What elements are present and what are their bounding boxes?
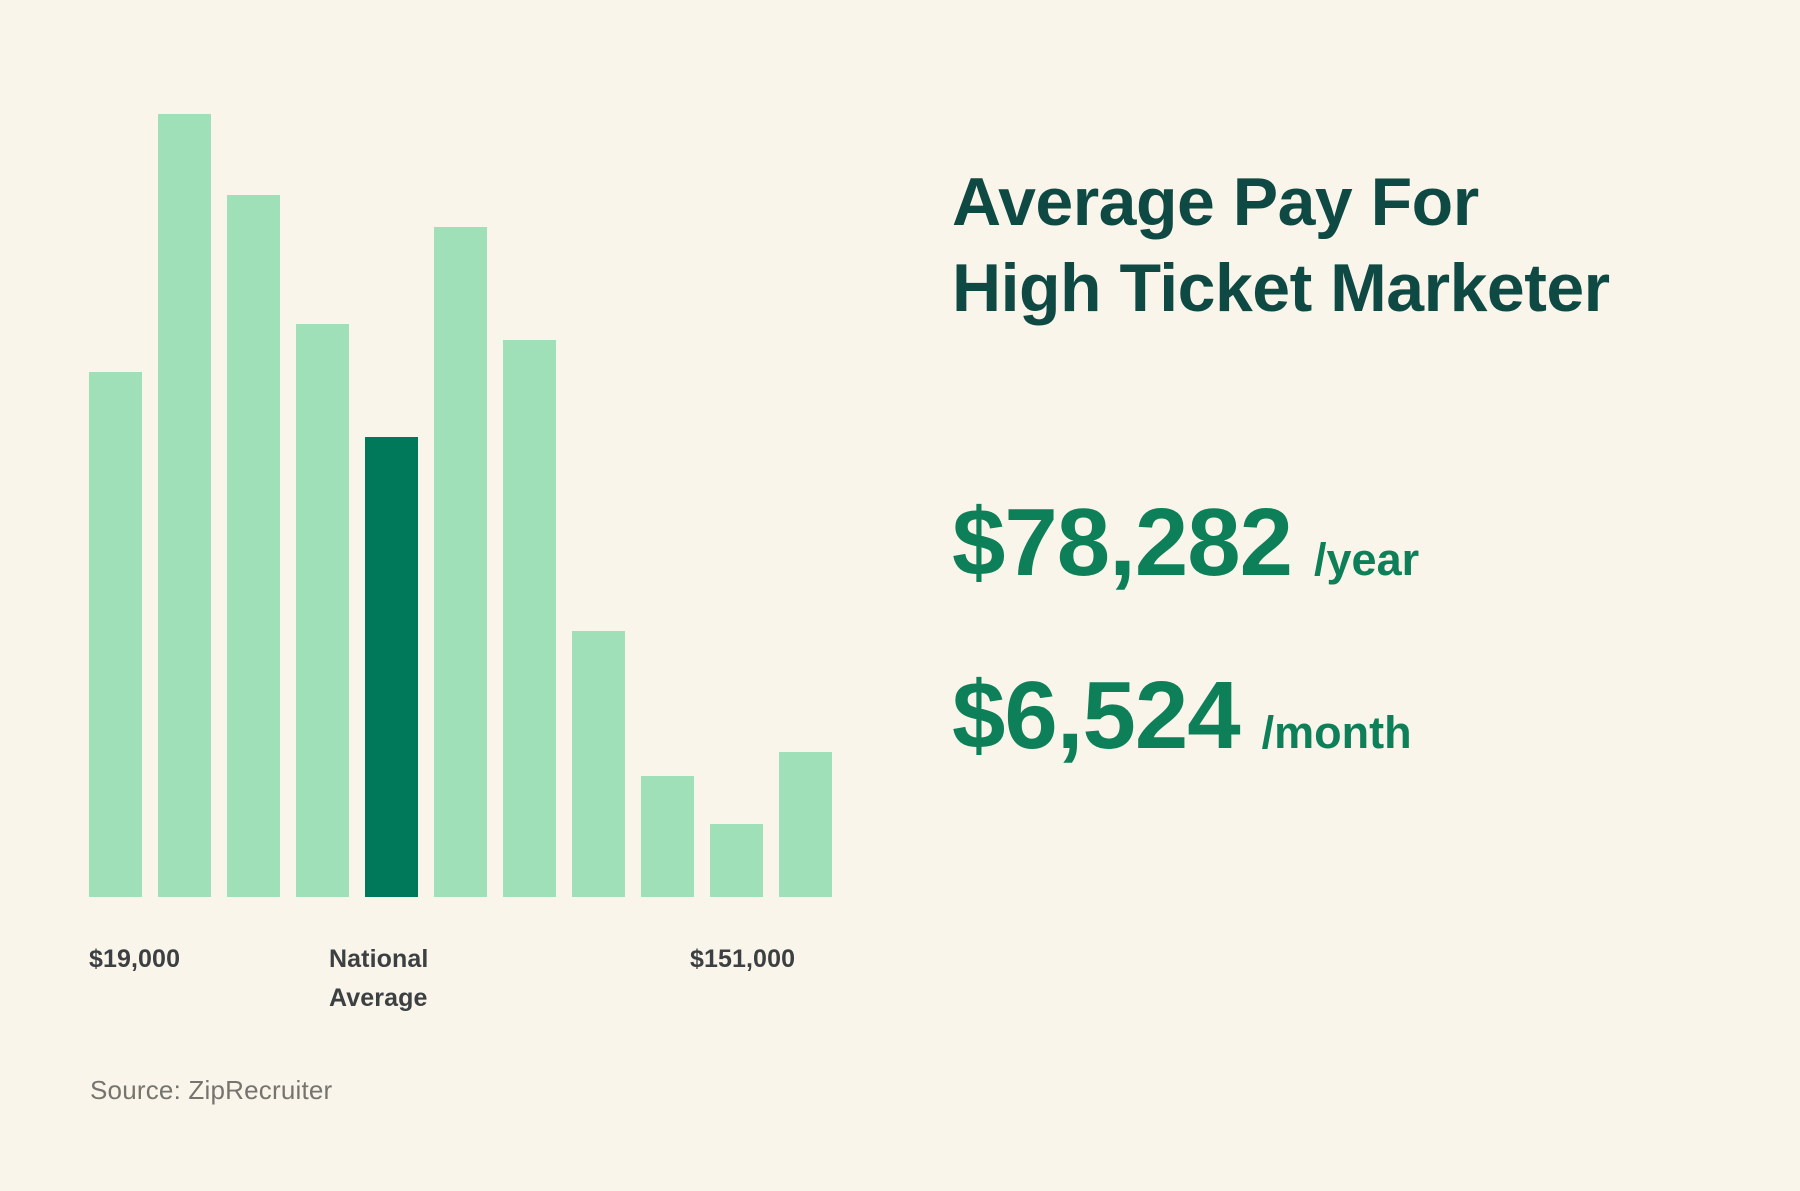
pay-summary-panel: Average Pay For High Ticket Marketer $78… — [952, 0, 1712, 1191]
yearly-pay-row: $78,282 /year — [952, 495, 1419, 591]
bar-segment — [503, 340, 556, 897]
bar-segment — [641, 776, 694, 897]
yearly-pay-unit: /year — [1314, 537, 1419, 582]
bar-segment — [227, 195, 280, 897]
bar-segment — [434, 227, 487, 897]
source-attribution: Source: ZipRecruiter — [90, 1075, 332, 1106]
bar-segment — [158, 114, 211, 897]
bar-plot-area — [89, 90, 849, 897]
yearly-pay-amount: $78,282 — [952, 495, 1292, 591]
infographic-canvas: $19,000 National Average $151,000 Source… — [0, 0, 1800, 1191]
bar-segment — [89, 372, 142, 897]
monthly-pay-unit: /month — [1262, 710, 1412, 755]
bar-segment — [296, 324, 349, 897]
bar-national-average — [365, 437, 418, 897]
salary-distribution-chart: $19,000 National Average $151,000 Source… — [0, 0, 900, 1191]
bar-segment — [572, 631, 625, 897]
axis-label-min: $19,000 — [89, 940, 180, 979]
bar-segment — [710, 824, 763, 897]
axis-label-max: $151,000 — [690, 940, 795, 979]
monthly-pay-row: $6,524 /month — [952, 668, 1412, 764]
axis-label-national-average: National Average — [329, 940, 428, 1018]
monthly-pay-amount: $6,524 — [952, 668, 1240, 764]
page-title: Average Pay For High Ticket Marketer — [952, 160, 1722, 331]
bar-segment — [779, 752, 832, 897]
